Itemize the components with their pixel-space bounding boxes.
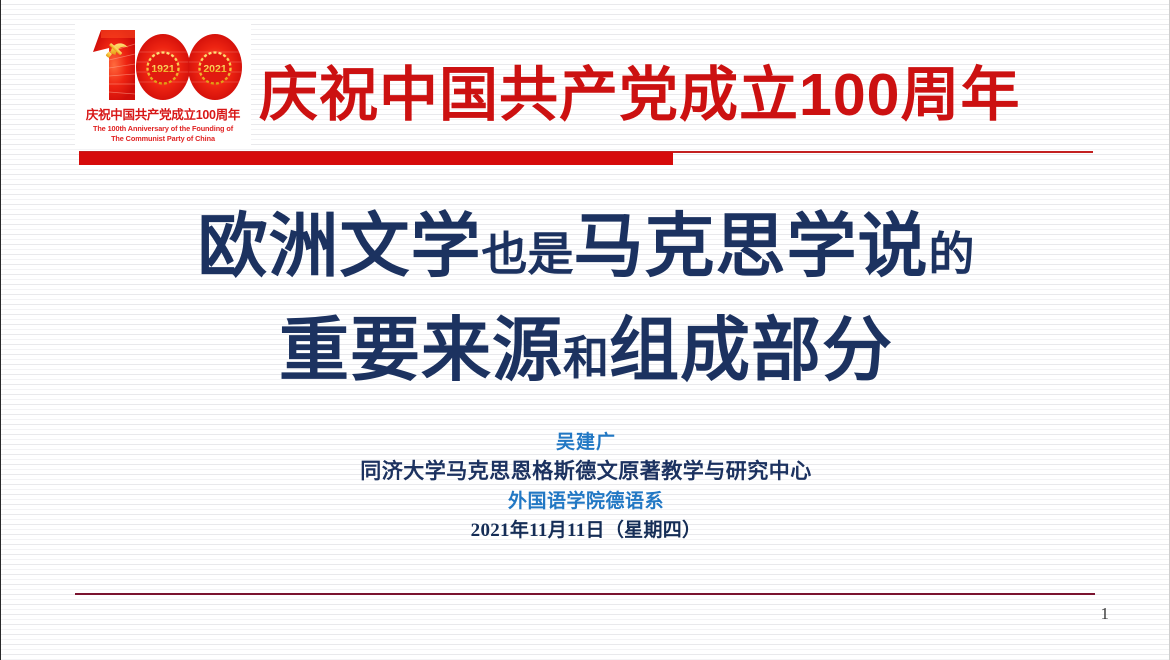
presentation-date: 2021年11月11日（星期四） <box>1 516 1170 545</box>
footer-divider <box>75 593 1095 595</box>
author-department: 外国语学院德语系 <box>1 487 1170 516</box>
anniversary-emblem: 1921 2021 庆祝中国共产党成立100周年 The 100th Anniv… <box>75 22 251 148</box>
emblem-year-end: 2021 <box>203 63 227 75</box>
title-term-component-part: 组成部分 <box>609 311 893 389</box>
presentation-slide: 1921 2021 庆祝中国共产党成立100周年 The 100th Anniv… <box>0 0 1170 660</box>
title-particle-de: 的 <box>929 228 975 280</box>
slide-number: 1 <box>1101 604 1110 624</box>
page-title-line-1: 欧洲文学也是马克思学说的 <box>1 204 1170 308</box>
emblem-caption-chinese: 庆祝中国共产党成立100周年 <box>75 108 251 123</box>
title-connector-and: 和 <box>563 332 609 384</box>
page-title-line-2: 重要来源和组成部分 <box>1 308 1170 412</box>
author-name: 吴建广 <box>1 430 1170 456</box>
title-term-marxist-theory: 马克思学说 <box>574 207 929 285</box>
page-title: 欧洲文学也是马克思学说的 重要来源和组成部分 <box>1 204 1170 412</box>
emblem-year-start: 1921 <box>151 63 175 75</box>
header-divider-thick <box>79 152 673 165</box>
emblem-caption-english-line1: The 100th Anniversary of the Founding of <box>75 124 251 134</box>
author-affiliation: 同济大学马克思恩格斯德文原著教学与研究中心 <box>1 456 1170 487</box>
emblem-caption-english-line2: The Communist Party of China <box>75 134 251 144</box>
header-title: 庆祝中国共产党成立100周年 <box>259 58 1089 132</box>
title-connector-also-is: 也是 <box>482 228 574 280</box>
byline-block: 吴建广 同济大学马克思恩格斯德文原著教学与研究中心 外国语学院德语系 2021年… <box>1 430 1170 545</box>
emblem-caption-english: The 100th Anniversary of the Founding of… <box>75 124 251 143</box>
title-term-important-source: 重要来源 <box>279 311 563 389</box>
title-term-european-literature: 欧洲文学 <box>198 207 482 285</box>
emblem-100-icon: 1921 2021 <box>75 22 251 108</box>
